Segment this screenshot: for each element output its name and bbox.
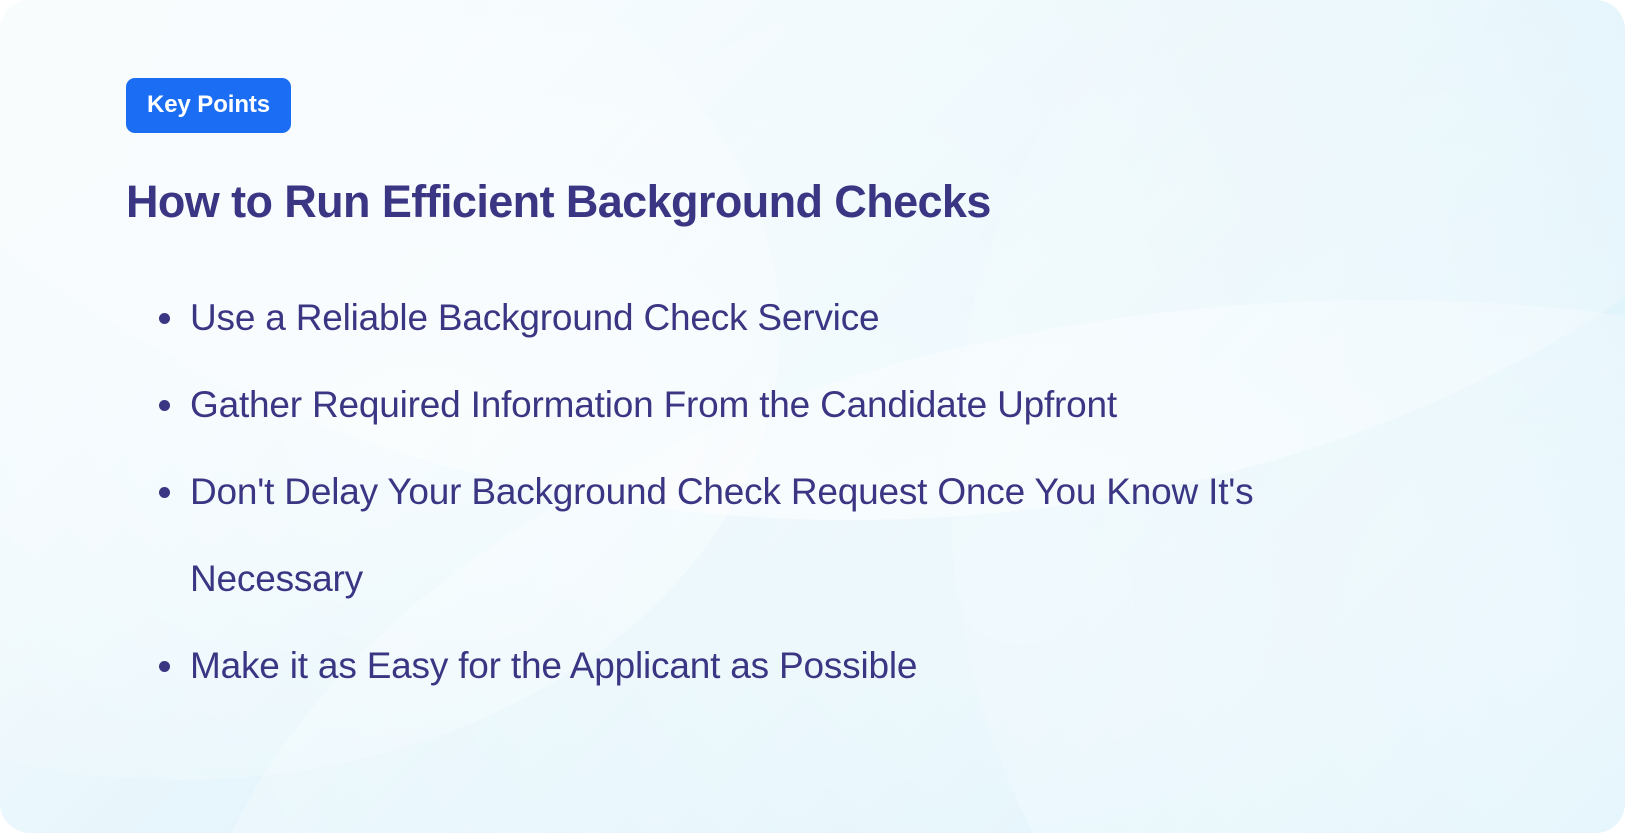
bullet-dot-icon — [159, 661, 170, 672]
bullet-dot-icon — [159, 313, 170, 324]
list-item-label: Use a Reliable Background Check Service — [190, 297, 879, 338]
bullet-dot-icon — [159, 400, 170, 411]
page-title: How to Run Efficient Background Checks — [126, 177, 1625, 227]
key-points-list: Use a Reliable Background Check Service … — [126, 274, 1416, 709]
list-item: Use a Reliable Background Check Service — [126, 274, 1416, 361]
list-item: Gather Required Information From the Can… — [126, 361, 1416, 448]
list-item-label: Don't Delay Your Background Check Reques… — [190, 471, 1253, 599]
key-points-card: Key Points How to Run Efficient Backgrou… — [0, 0, 1625, 833]
list-item-label: Gather Required Information From the Can… — [190, 384, 1117, 425]
list-item: Don't Delay Your Background Check Reques… — [126, 448, 1416, 622]
key-points-badge: Key Points — [126, 78, 291, 133]
bullet-dot-icon — [159, 487, 170, 498]
card-content: Key Points How to Run Efficient Backgrou… — [0, 0, 1625, 709]
list-item: Make it as Easy for the Applicant as Pos… — [126, 622, 1416, 709]
list-item-label: Make it as Easy for the Applicant as Pos… — [190, 645, 917, 686]
